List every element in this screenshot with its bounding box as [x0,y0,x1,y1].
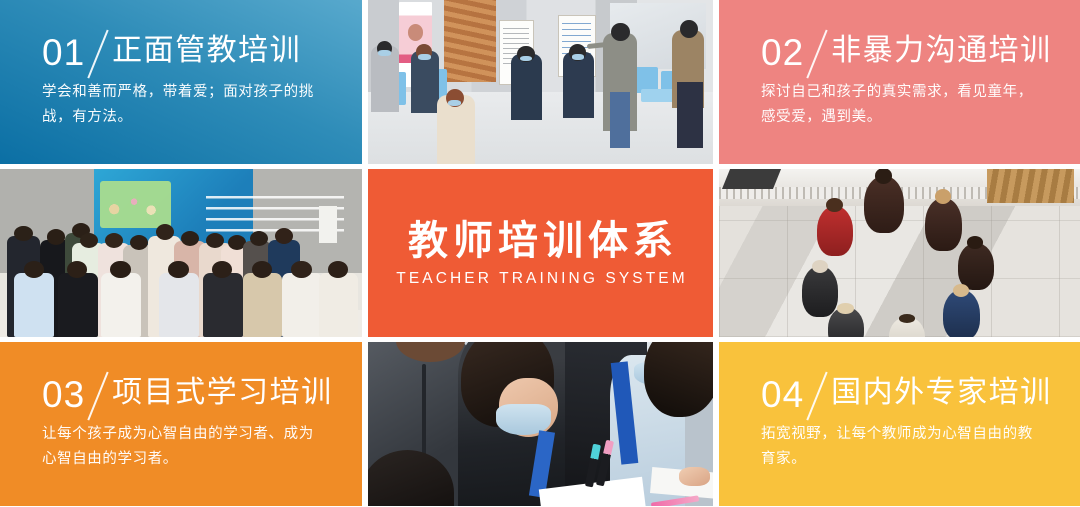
slash-icon [86,371,112,415]
tile-01-title: 正面管教培训 [112,36,301,67]
wooden-stair-rail [987,169,1074,203]
participant-torso [943,290,979,337]
tile-02-nonviolent-communication[interactable]: 02 非暴力沟通培训 探讨自己和孩子的真实需求，看见童年，感受爱，遇到美。 [719,0,1080,164]
tile-04-expert-training[interactable]: 04 国内外专家培训 拓宽视野，让每个教师成为心智自由的教育家。 [719,342,1080,506]
face-mask-icon [448,100,461,106]
tile-03-heading: 03 项目式学习培训 [42,376,362,415]
slash-icon [805,29,831,73]
photo-training-room [368,0,713,164]
group-member-front [243,273,283,337]
tile-02-number: 02 [761,34,804,71]
teacher-training-system-grid: 01 正面管教培训 学会和善而严格，带着爱；面对孩子的挑战，有方法。 [0,0,1080,507]
participant-torso [958,243,994,290]
ceiling-beam [722,169,781,189]
group-member-front [203,273,243,337]
participant-head [611,23,630,41]
participant-jeans [610,92,631,148]
group-member-head [250,231,268,246]
group-member-head [291,261,311,278]
right-participant-hair [644,342,713,417]
brand-center-tile: 教师培训体系 TEACHER TRAINING SYSTEM [368,169,713,337]
circle-participant [864,176,904,233]
face-mask-icon [572,54,584,60]
circle-participant [817,206,853,256]
group-member-front [14,273,54,337]
group-member-head [80,233,98,248]
tile-03-title: 项目式学习培训 [112,378,333,409]
tile-03-project-based-learning[interactable]: 03 项目式学习培训 让每个孩子成为心智自由的学习者、成为心智自由的学习者。 [0,342,362,506]
tile-01-number: 01 [42,34,85,71]
tile-04-description: 拓宽视野，让每个教师成为心智自由的教育家。 [761,422,1043,472]
slash-icon [805,371,831,415]
tile-01-description: 学会和善而严格，带着爱；面对孩子的挑战，有方法。 [42,80,324,130]
photo-group-workshop [0,169,362,337]
participant-head [967,236,983,248]
group-member-head [24,261,44,278]
group-member-head [105,233,123,248]
tile-01-positive-discipline[interactable]: 01 正面管教培训 学会和善而严格，带着爱；面对孩子的挑战，有方法。 [0,0,362,164]
group-member-head [14,226,32,241]
group-member-head [252,261,272,278]
group-member-head [275,228,293,244]
group-member-head [328,261,348,278]
tile-04-number: 04 [761,376,804,413]
tile-04-heading: 04 国内外专家培训 [761,376,1080,415]
group-member-front [101,273,141,337]
circle-participant [925,198,961,252]
tile-03-number: 03 [42,376,85,413]
group-member-front [58,273,98,337]
trainer-skirt [677,82,703,148]
participant-torso [817,206,853,256]
wall-poster [319,206,337,243]
photo-circle-teamwork [719,169,1080,337]
group-member-head [130,235,148,250]
participant-torso [864,176,904,233]
group-member-front [319,273,359,337]
slash-icon [86,29,112,73]
tile-01-heading: 01 正面管教培训 [42,34,362,73]
staircase [444,0,496,82]
photo-writing-close-up [368,342,713,506]
tile-02-heading: 02 非暴力沟通培训 [761,34,1080,73]
tile-02-title: 非暴力沟通培训 [831,36,1052,67]
participant-head [837,303,854,313]
group-member-head [110,261,130,278]
tile-04-title: 国内外专家培训 [831,378,1052,409]
tile-02-description: 探讨自己和孩子的真实需求，看见童年，感受爱，遇到美。 [761,80,1043,130]
face-mask-icon [378,50,390,56]
face-mask-icon [418,54,430,60]
writing-hand [679,467,710,487]
group-member-front [159,273,199,337]
group-member-head [47,229,65,244]
brand-title-en: TEACHER TRAINING SYSTEM [393,270,688,288]
seated-participant [563,52,594,118]
tile-03-description: 让每个孩子成为心智自由的学习者、成为心智自由的学习者。 [42,422,324,472]
brand-title-cn: 教师培训体系 [403,219,678,263]
trainer-head [680,20,698,38]
circle-participant [889,317,925,337]
participant-torso [925,198,961,252]
seated-participant [411,51,439,113]
group-member-head [168,261,188,278]
group-member-front [282,273,322,337]
circle-participant [828,307,864,337]
circle-participant [958,243,994,290]
circle-participant [943,290,979,337]
participant-head [826,198,843,212]
seated-participant [511,54,542,120]
